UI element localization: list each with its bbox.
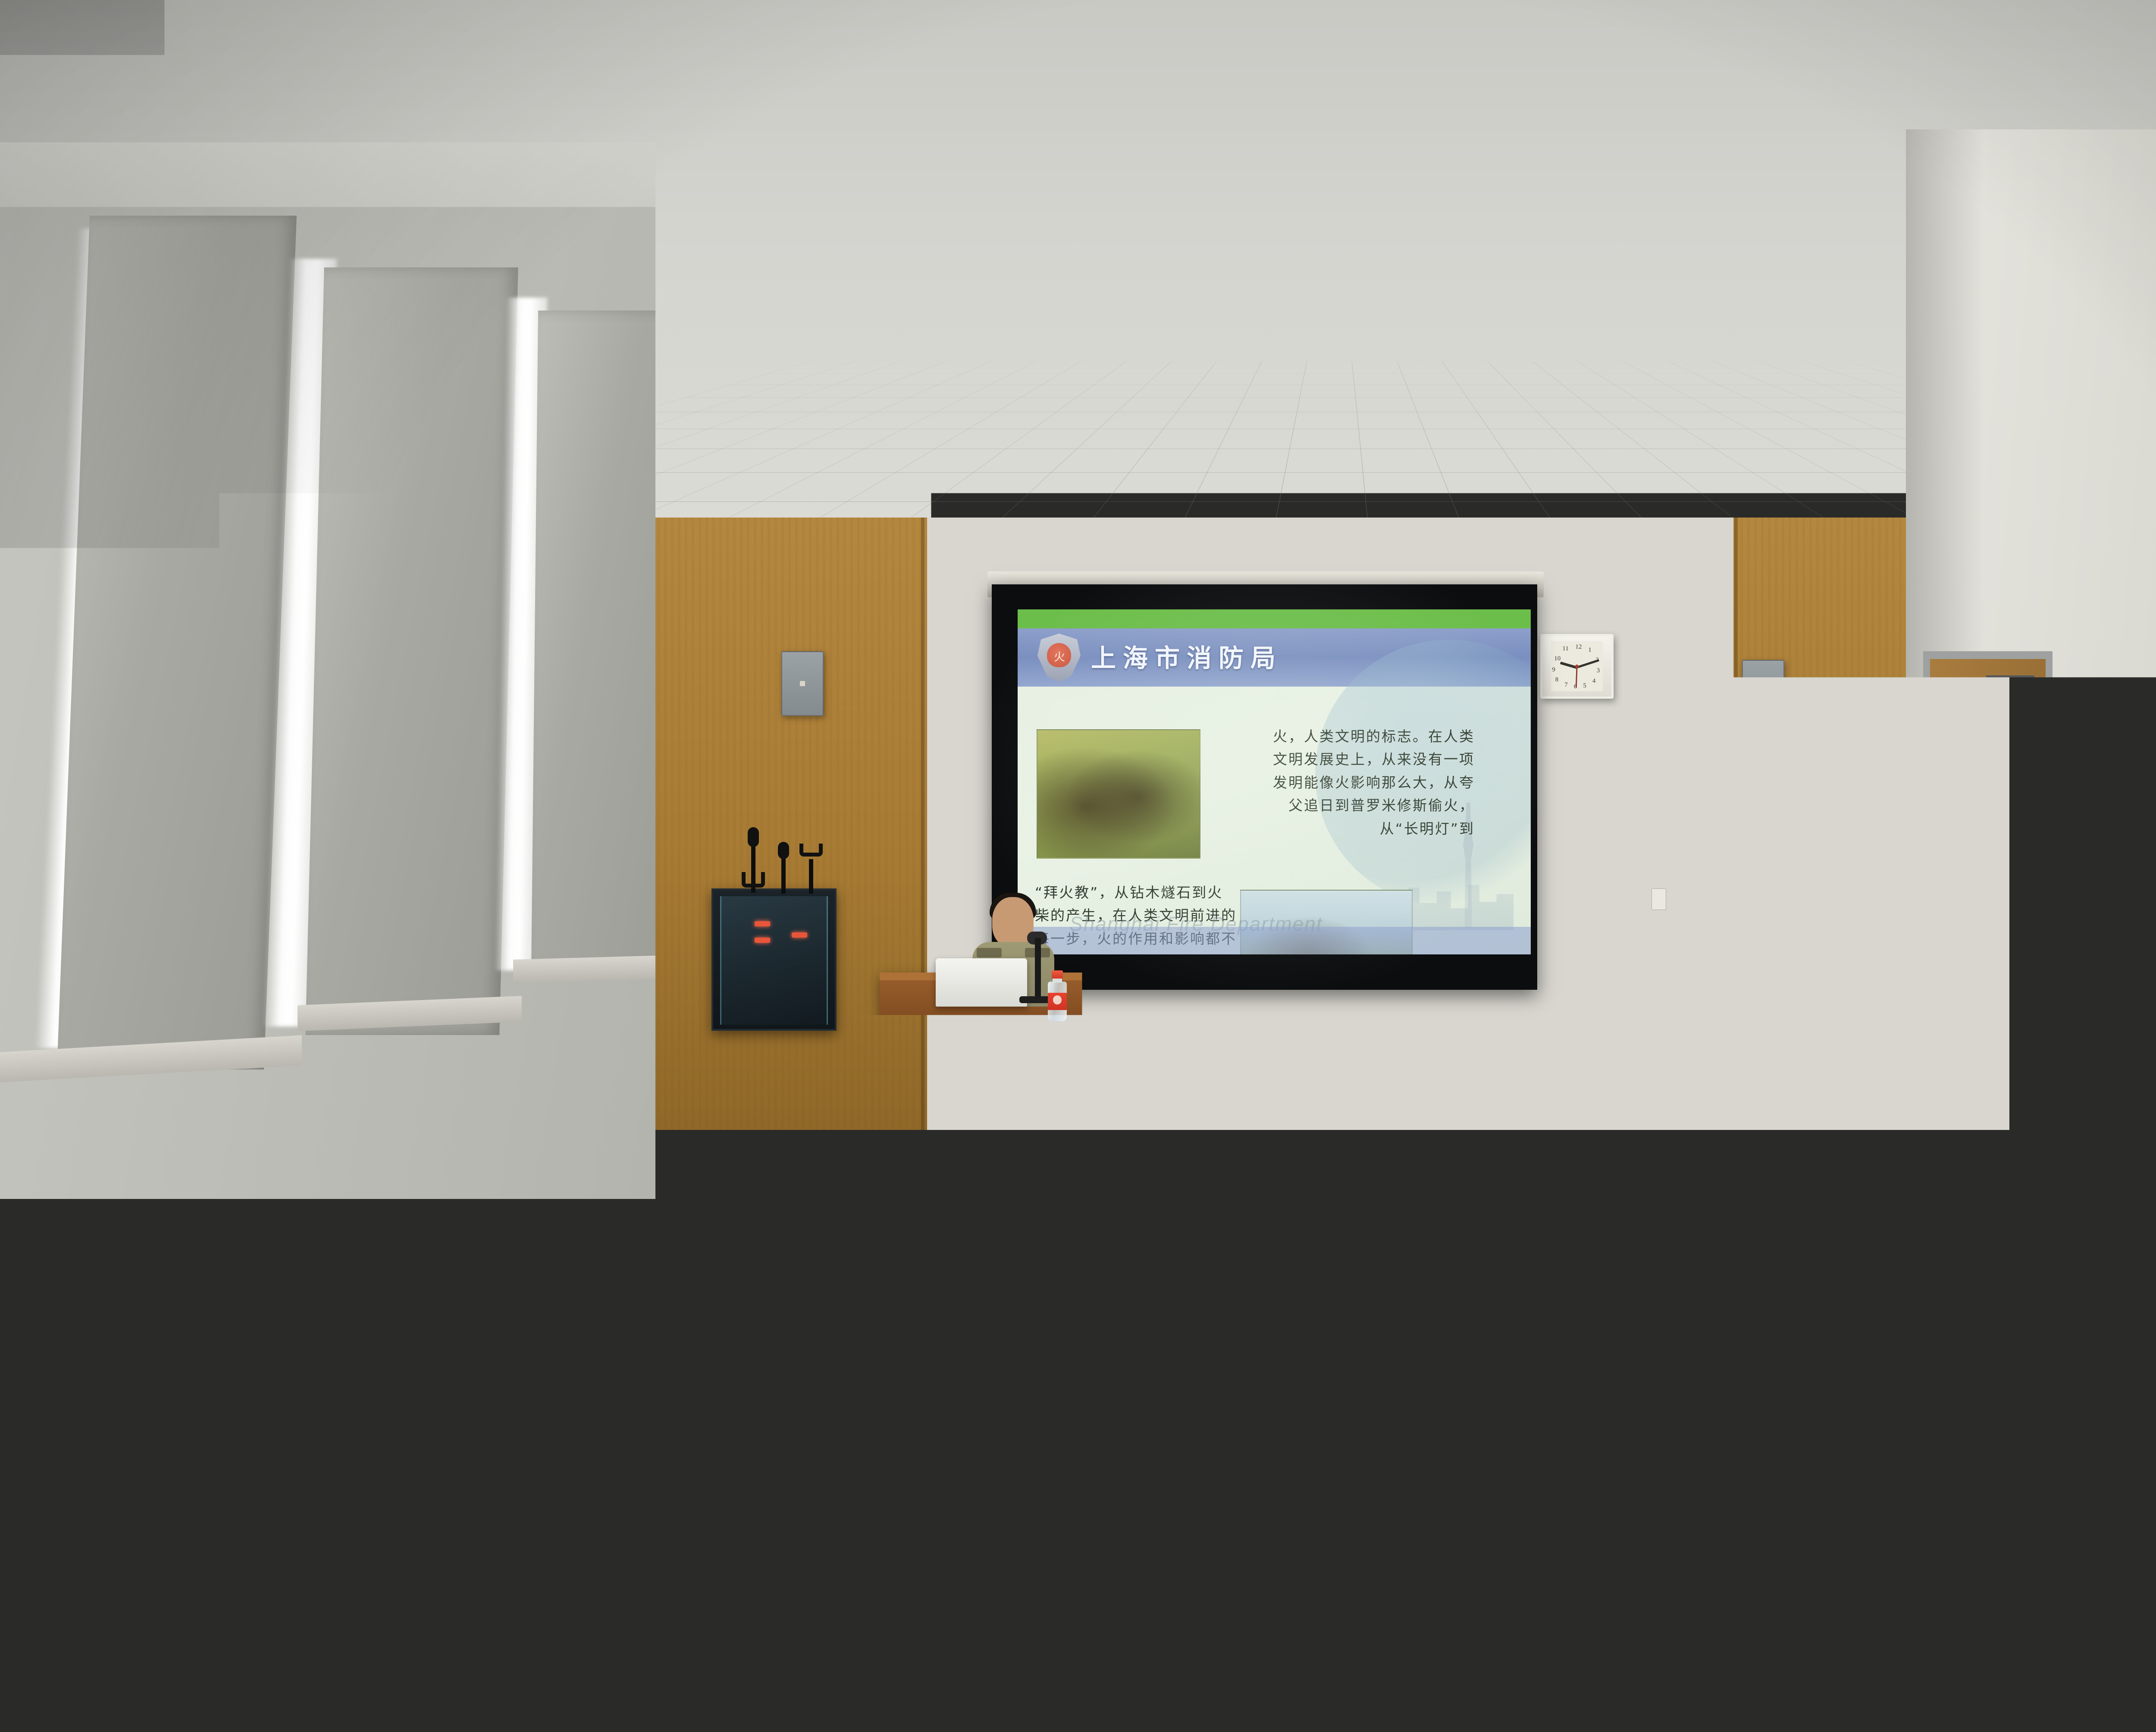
status-led bbox=[792, 932, 807, 938]
slide-org-title: 上海市消防局 bbox=[1091, 638, 1282, 674]
wall-speaker-left bbox=[781, 651, 824, 716]
audience-member bbox=[772, 1283, 941, 1448]
window-roller-blind[interactable] bbox=[531, 311, 655, 970]
podium-laptop[interactable] bbox=[936, 958, 1027, 1007]
clock-minute-hand bbox=[1576, 659, 1599, 668]
person-torso bbox=[1621, 1383, 1794, 1474]
audience-member bbox=[444, 1160, 573, 1285]
slide-text-right-column: 火，人类文明的标志。在人类文明发展史上，从来没有一项发明能像火影响那么大，从夸父… bbox=[1268, 725, 1475, 840]
person-torso bbox=[582, 1082, 668, 1125]
clock-numeral: 1 bbox=[1588, 646, 1592, 654]
projector-mount-bar bbox=[1234, 442, 1312, 460]
clock-hour-hand bbox=[1560, 662, 1577, 669]
microphone-stand-head bbox=[778, 842, 789, 859]
audience-member bbox=[1759, 1026, 1851, 1109]
microphone-stand-stem bbox=[809, 859, 813, 894]
person-torso bbox=[1544, 1597, 1802, 1732]
audience-member-foreground bbox=[0, 1337, 259, 1732]
door-handle[interactable] bbox=[1937, 875, 1946, 907]
ceiling-light-strip bbox=[906, 397, 1233, 405]
eyeglasses bbox=[190, 1419, 246, 1459]
smoke-detector bbox=[776, 425, 800, 434]
audience-member-foreground bbox=[466, 1359, 785, 1732]
wall-clock: 12 1 2 3 4 5 6 7 8 9 10 11 bbox=[1540, 634, 1614, 699]
door-glass-upper-right bbox=[1986, 675, 2034, 783]
audience-member-foreground bbox=[1069, 1221, 1466, 1732]
person-torso bbox=[1759, 1070, 1851, 1116]
clock-numeral: 4 bbox=[1592, 678, 1596, 685]
microphone-stand-stem bbox=[781, 857, 786, 894]
clock-face: 12 1 2 3 4 5 6 7 8 9 10 11 bbox=[1551, 641, 1603, 691]
microphone-stand-fork bbox=[742, 872, 765, 888]
eyeglasses bbox=[250, 1423, 302, 1460]
audience-member bbox=[1130, 1087, 1242, 1191]
clock-numeral: 7 bbox=[1564, 681, 1568, 689]
bottle-cap bbox=[1052, 970, 1063, 979]
clock-numeral: 3 bbox=[1597, 667, 1600, 675]
status-led bbox=[755, 921, 770, 926]
slide-image-prehistoric-fire bbox=[1037, 729, 1200, 859]
clock-numeral: 8 bbox=[1555, 676, 1559, 684]
presenter-epaulette-left bbox=[977, 948, 1002, 957]
presentation-slide: 火 上海市消防局 火，人类文明的标志。在人类文明发展史上，从来没有一项发明能像火… bbox=[1018, 609, 1531, 954]
microphone-stand-head bbox=[748, 827, 759, 847]
ceiling-projector bbox=[1250, 388, 1295, 461]
person-torso bbox=[466, 1516, 785, 1732]
projection-screen: 火 上海市消防局 火，人类文明的标志。在人类文明发展史上，从来没有一项发明能像火… bbox=[992, 584, 1537, 990]
audience-member-foreground bbox=[1828, 1277, 2156, 1732]
clock-second-hand bbox=[1576, 667, 1578, 687]
fire-department-badge-icon: 火 bbox=[1037, 634, 1081, 682]
clock-numeral: 9 bbox=[1552, 666, 1555, 674]
person-torso bbox=[0, 1492, 259, 1732]
smoke-detector bbox=[1457, 36, 1496, 48]
person-torso bbox=[1069, 1402, 1466, 1732]
clock-center-dot bbox=[1575, 665, 1579, 668]
audience-member bbox=[1544, 1471, 1802, 1729]
status-led bbox=[755, 938, 770, 943]
audience-member bbox=[1621, 1298, 1794, 1470]
light-switch[interactable] bbox=[1651, 888, 1666, 910]
badge-glyph: 火 bbox=[1054, 648, 1065, 664]
window-roller-blind[interactable] bbox=[305, 267, 518, 1035]
sprinkler-head bbox=[693, 457, 705, 477]
door-glass-upper-left bbox=[1934, 681, 1982, 789]
window-roller-blind[interactable] bbox=[57, 216, 297, 1070]
projector-mount-rod bbox=[1269, 388, 1275, 418]
slide-green-bar bbox=[1018, 609, 1531, 628]
microphone-stand-fork bbox=[799, 844, 823, 857]
slide-bottom-band bbox=[1018, 927, 1531, 954]
conference-room-photo: 12 1 2 3 4 5 6 7 8 9 10 11 bbox=[0, 0, 2156, 1732]
window-sill bbox=[513, 955, 655, 983]
audience-member bbox=[1656, 1085, 1769, 1191]
audience-member bbox=[940, 1176, 1074, 1307]
podium-microphone-stem bbox=[1035, 938, 1041, 1003]
audience-member bbox=[2001, 1101, 2114, 1208]
clock-numeral: 11 bbox=[1562, 645, 1568, 653]
wall-speaker-right bbox=[1742, 660, 1784, 725]
water-bottle[interactable] bbox=[1591, 1362, 1614, 1427]
person-torso bbox=[1828, 1453, 2156, 1732]
clock-numeral: 5 bbox=[1583, 682, 1586, 690]
audience-member bbox=[582, 1039, 668, 1117]
left-wall-soffit bbox=[0, 142, 655, 207]
audience-member bbox=[1457, 1089, 1569, 1193]
clock-numeral: 12 bbox=[1575, 643, 1582, 651]
ceiling-light-strip bbox=[906, 382, 1233, 392]
clock-numeral: 10 bbox=[1554, 655, 1561, 662]
audience-member bbox=[1846, 1096, 1958, 1202]
